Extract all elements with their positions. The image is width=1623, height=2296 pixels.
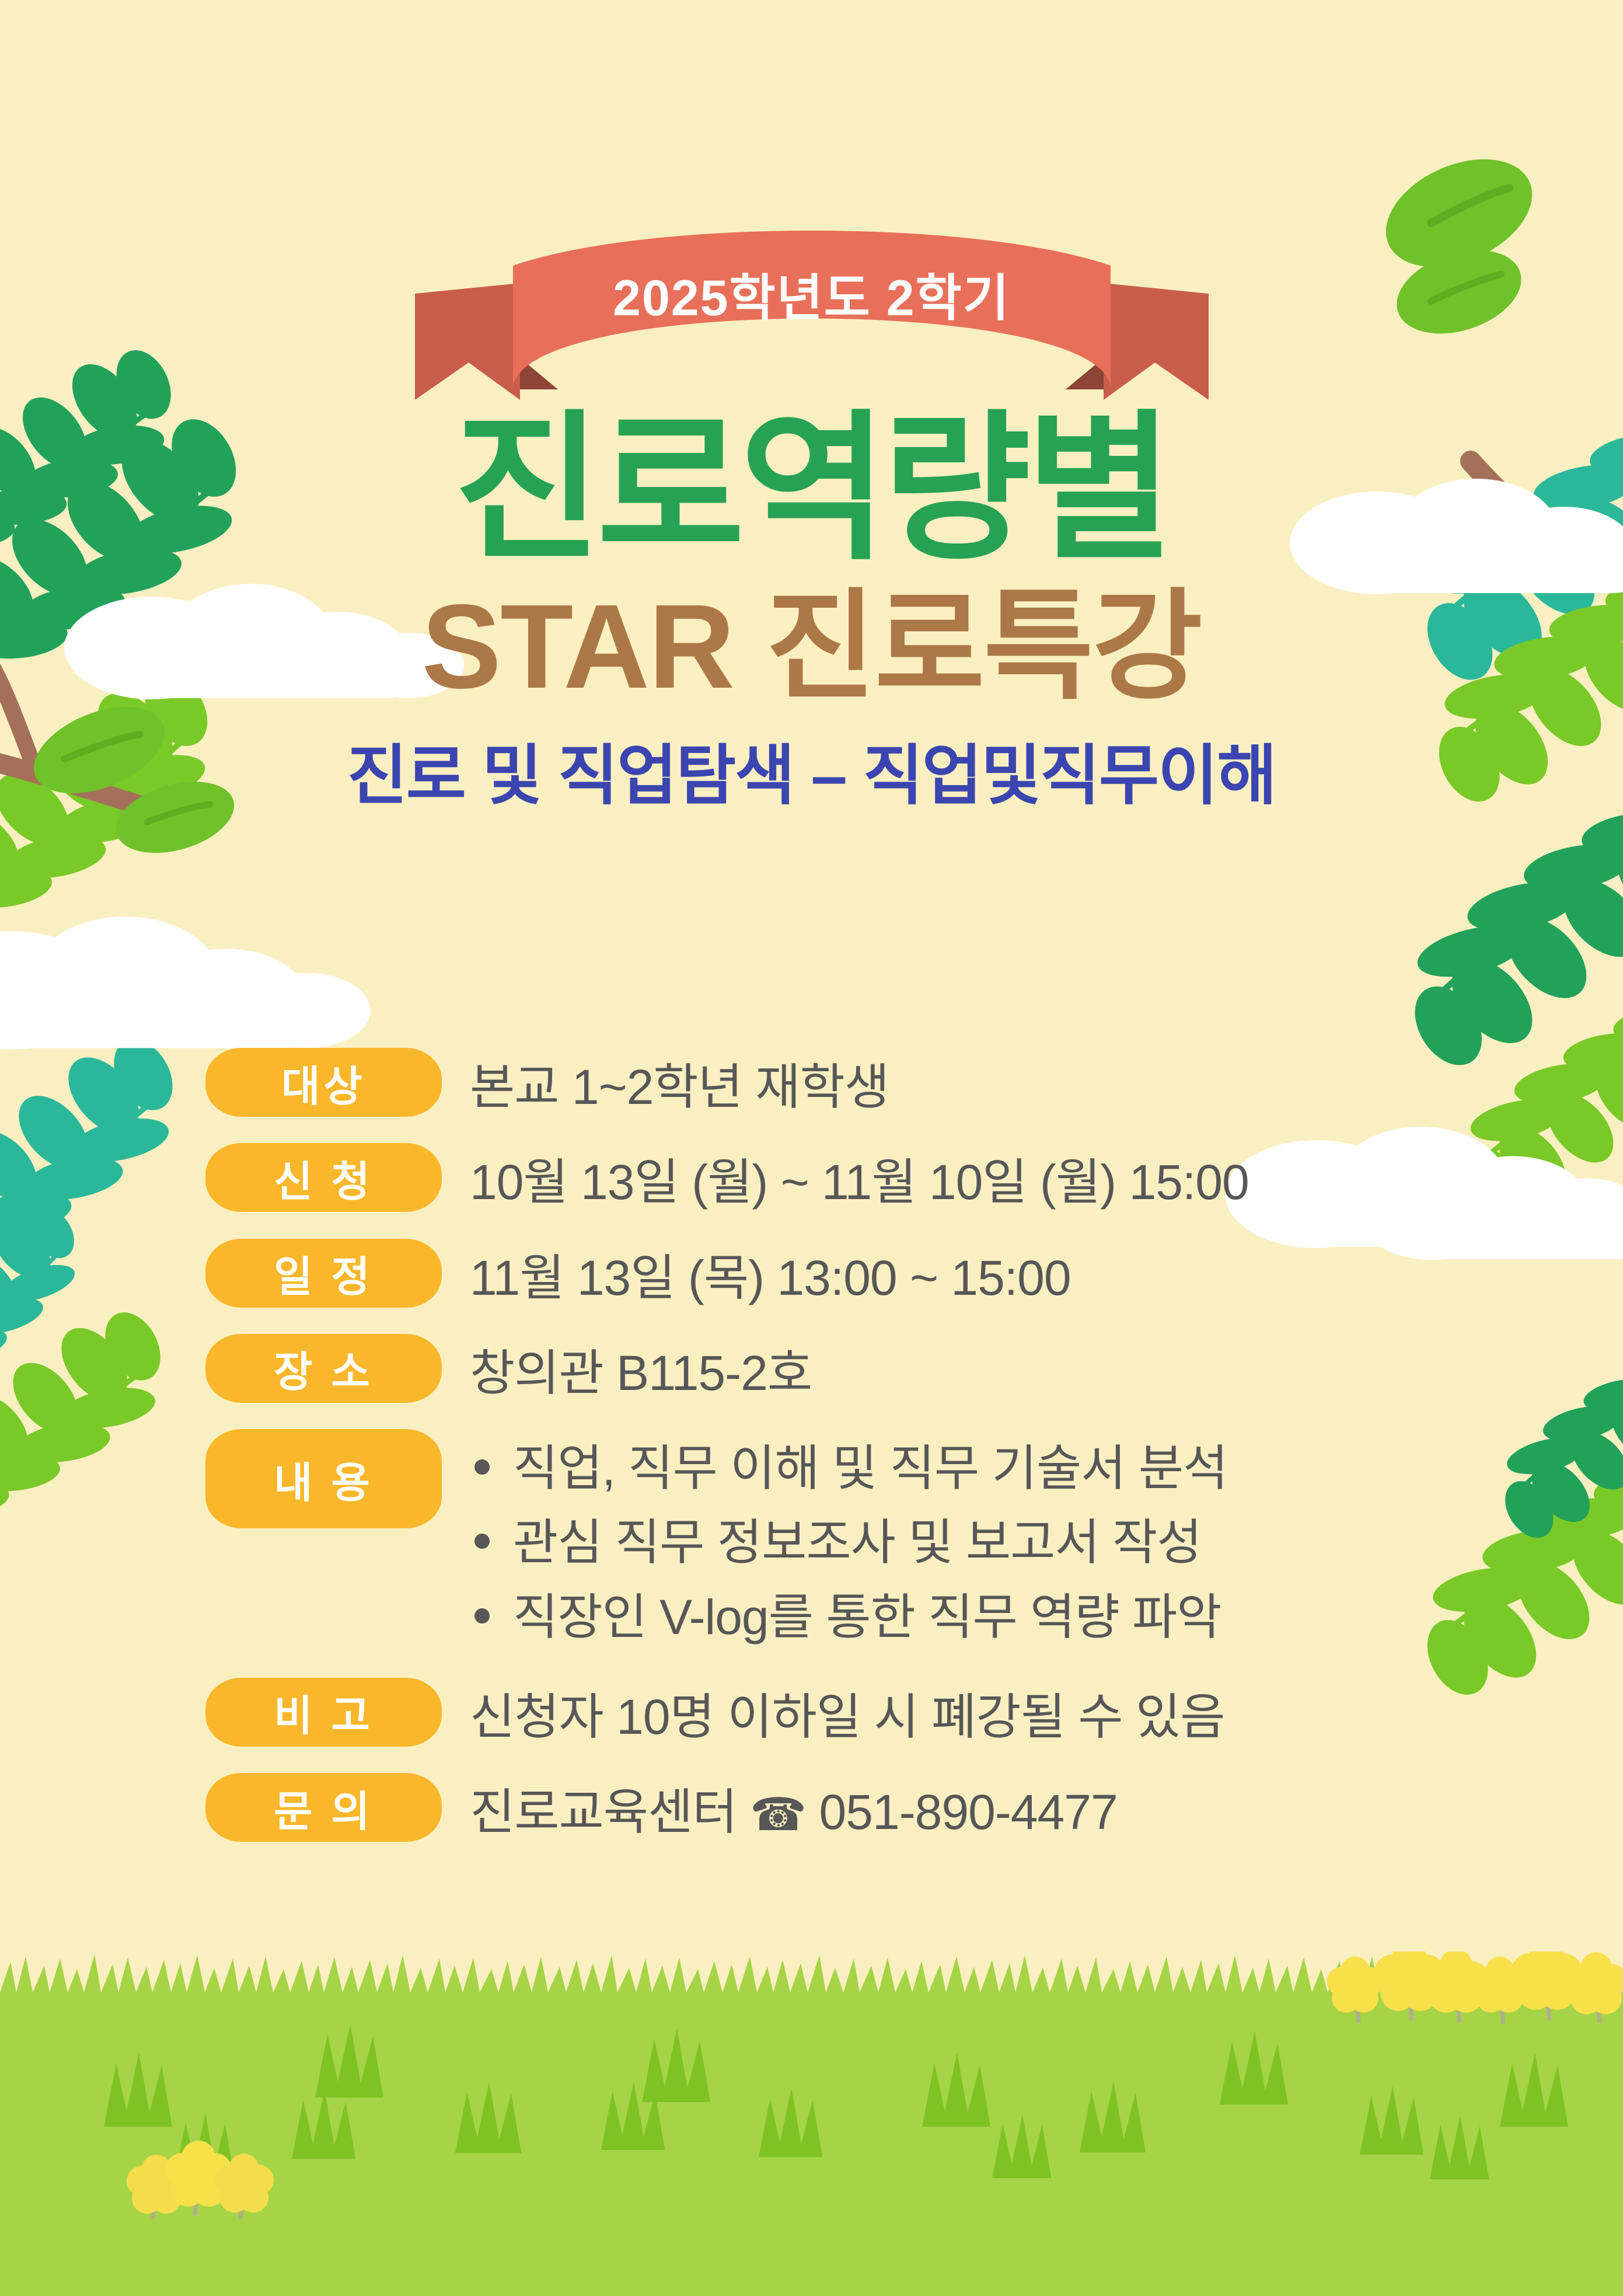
info-row-target: 대상 본교 1~2학년 재학생 — [205, 1048, 1518, 1122]
content-bullet-list: 직업, 직무 이해 및 직무 기술서 분석 관심 직무 정보조사 및 보고서 작… — [470, 1434, 1518, 1652]
info-table: 대상 본교 1~2학년 재학생 신 청 10월 13일 (월) ~ 11월 10… — [205, 1048, 1518, 1869]
contact-office: 진로교육센터 — [470, 1785, 737, 1839]
page-title-main: 진로역량별 — [0, 409, 1623, 569]
poster-root: 2025학년도 2학기 진로역량별 STAR 진로특강 진로 및 직업탐색 – … — [0, 0, 1623, 2296]
info-label-content: 내 용 — [205, 1429, 442, 1528]
info-row-content: 내 용 직업, 직무 이해 및 직무 기술서 분석 관심 직무 정보조사 및 보… — [205, 1429, 1518, 1657]
info-row-schedule: 일 정 11월 13일 (목) 13:00 ~ 15:00 — [205, 1239, 1518, 1313]
info-value-location: 창의관 B115-2호 — [470, 1334, 1518, 1408]
cloud-left-mid — [0, 917, 371, 1050]
title-block: 진로역량별 STAR 진로특강 진로 및 직업탐색 – 직업및직무이해 — [0, 409, 1623, 811]
fern-left-lower — [0, 1298, 198, 1535]
info-value-schedule: 11월 13일 (목) 13:00 ~ 15:00 — [470, 1239, 1518, 1313]
info-row-contact: 문 의 진로교육센터 ☎ 051-890-4477 — [205, 1773, 1518, 1848]
info-label-location: 장 소 — [205, 1334, 442, 1403]
info-value-content: 직업, 직무 이해 및 직무 기술서 분석 관심 직무 정보조사 및 보고서 작… — [470, 1429, 1518, 1657]
semester-ribbon: 2025학년도 2학기 — [415, 225, 1209, 406]
info-value-contact: 진로교육센터 ☎ 051-890-4477 — [470, 1773, 1518, 1848]
contact-phone-number: 051-890-4477 — [819, 1785, 1118, 1839]
info-value-notes: 신청자 10명 이하일 시 폐강될 수 있음 — [470, 1678, 1518, 1752]
content-bullet-item: 직업, 직무 이해 및 직무 기술서 분석 — [470, 1434, 1518, 1503]
content-bullet-item: 직장인 V-log를 통한 직무 역량 파악 — [470, 1583, 1518, 1652]
info-value-application: 10월 13일 (월) ~ 11월 10일 (월) 15:00 — [470, 1143, 1518, 1217]
info-label-contact: 문 의 — [205, 1773, 442, 1842]
content-bullet-item: 관심 직무 정보조사 및 보고서 작성 — [470, 1508, 1518, 1577]
info-row-notes: 비 고 신청자 10명 이하일 시 폐강될 수 있음 — [205, 1678, 1518, 1752]
info-label-schedule: 일 정 — [205, 1239, 442, 1308]
info-value-target: 본교 1~2학년 재학생 — [470, 1048, 1518, 1122]
info-label-notes: 비 고 — [205, 1678, 442, 1747]
telephone-icon: ☎ — [750, 1789, 806, 1841]
info-row-location: 장 소 창의관 B115-2호 — [205, 1334, 1518, 1408]
page-title-sub: STAR 진로특강 — [0, 580, 1623, 714]
info-label-application: 신 청 — [205, 1143, 442, 1212]
ribbon-label: 2025학년도 2학기 — [415, 225, 1209, 406]
info-row-application: 신 청 10월 13일 (월) ~ 11월 10일 (월) 15:00 — [205, 1143, 1518, 1217]
page-subtitle: 진로 및 직업탐색 – 직업및직무이해 — [0, 740, 1623, 811]
grass-ground — [0, 1952, 1623, 2296]
info-label-target: 대상 — [205, 1048, 442, 1117]
